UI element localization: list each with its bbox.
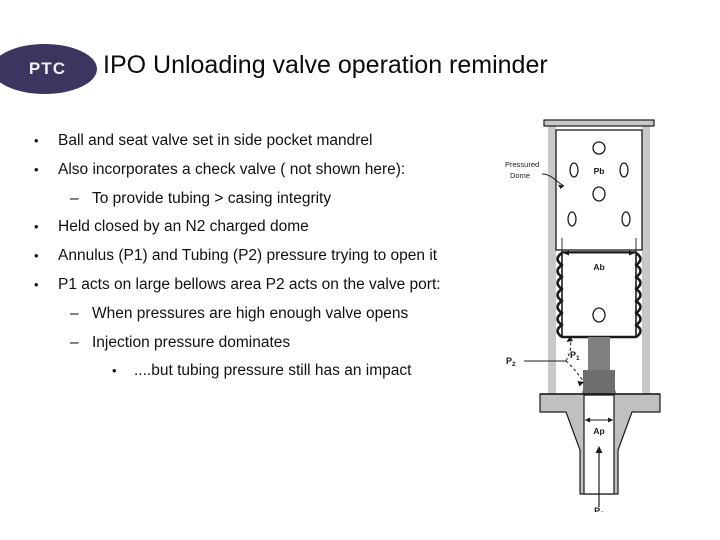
slide-canvas: PTC IPO Unloading valve operation remind…: [0, 0, 720, 540]
bullet-text: Annulus (P1) and Tubing (P2) pressure tr…: [58, 242, 437, 271]
dome-pressure-label: Pb: [594, 166, 605, 176]
list-item: • ....but tubing pressure still has an i…: [34, 357, 514, 386]
ptc-logo: PTC: [0, 44, 97, 94]
list-item: • Also incorporates a check valve ( not …: [34, 156, 514, 185]
bullet-text: When pressures are high enough valve ope…: [92, 300, 408, 329]
tubing-pressure-side-label: P2: [506, 356, 516, 368]
list-item: – To provide tubing > casing integrity: [34, 185, 514, 214]
bullet-marker: •: [34, 271, 58, 300]
bullet-text: ....but tubing pressure still has an imp…: [134, 357, 411, 386]
tubing-pressure-branch-down: [566, 361, 584, 382]
bullet-marker: •: [34, 213, 58, 242]
list-item: • Held closed by an N2 charged dome: [34, 213, 514, 242]
list-item: • P1 acts on large bellows area P2 acts …: [34, 271, 514, 300]
tubing-pressure-bottom-label: P2: [594, 506, 604, 512]
valve-top-cap: [544, 120, 654, 126]
list-item: – When pressures are high enough valve o…: [34, 300, 514, 329]
valve-diagram: Pb Pressured Dome Ab: [500, 112, 720, 512]
list-item: – Injection pressure dominates: [34, 329, 514, 358]
casing-wall-left: [548, 124, 556, 394]
bullet-text: P1 acts on large bellows area P2 acts on…: [58, 271, 441, 300]
annulus-pressure-label: P1: [570, 350, 580, 362]
bullet-text: Also incorporates a check valve ( not sh…: [58, 156, 405, 185]
bullet-marker: •: [34, 127, 58, 156]
list-item: • Ball and seat valve set in side pocket…: [34, 127, 514, 156]
logo-label: PTC: [23, 59, 66, 79]
pressured-dome-label-line1: Pressured: [505, 160, 539, 169]
list-item: • Annulus (P1) and Tubing (P2) pressure …: [34, 242, 514, 271]
bullet-marker: •: [34, 242, 58, 271]
title-bar: PTC IPO Unloading valve operation remind…: [0, 44, 720, 96]
bullet-marker: –: [70, 329, 92, 358]
bullet-marker: •: [112, 357, 134, 386]
bullet-text: Held closed by an N2 charged dome: [58, 213, 309, 242]
bellows-area-label: Ab: [593, 262, 604, 272]
dome-chamber: [556, 130, 642, 250]
bullet-text: Ball and seat valve set in side pocket m…: [58, 127, 372, 156]
casing-wall-right: [642, 124, 650, 394]
port-area-label: Ap: [593, 426, 604, 436]
page-title: IPO Unloading valve operation reminder: [103, 48, 548, 82]
pressured-dome-label-line2: Dome: [510, 171, 530, 180]
bullet-text: Injection pressure dominates: [92, 329, 290, 358]
bullet-list: • Ball and seat valve set in side pocket…: [34, 127, 514, 386]
bullet-text: To provide tubing > casing integrity: [92, 185, 331, 214]
bullet-marker: –: [70, 185, 92, 214]
bullet-marker: •: [34, 156, 58, 185]
bullet-marker: –: [70, 300, 92, 329]
